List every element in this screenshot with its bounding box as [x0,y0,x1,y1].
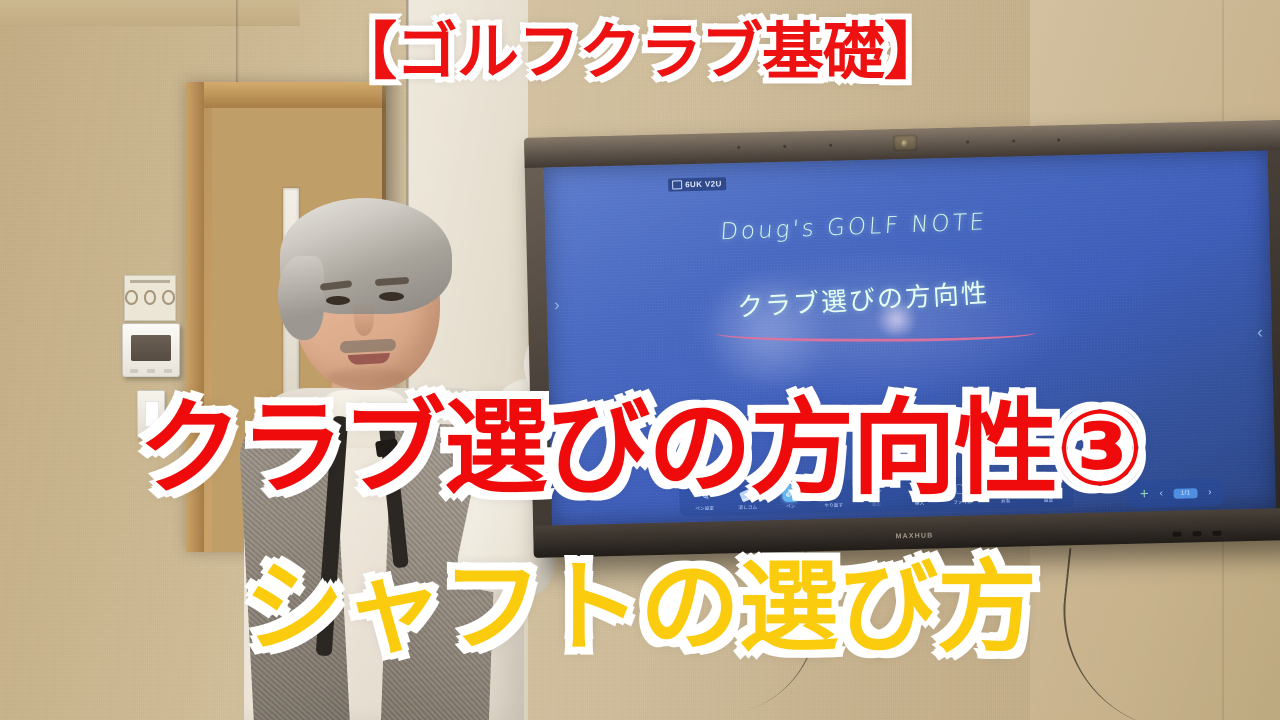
nose [354,302,374,336]
edge-hint-right-icon[interactable]: ‹ [1257,323,1263,343]
source-badge: 6UK V2U [668,177,726,191]
source-badge-label: 6UK V2U [685,179,722,189]
eye-left [326,296,350,305]
screenshot-frame: 6UK V2U Doug's GOLF NOTE クラブ選びの方向性 › ‹ ✎… [0,0,1280,720]
subtitle-overlay: シャフトの選び方 [0,558,1280,658]
wall-sticker [124,275,176,321]
hair-side [278,256,324,340]
eye-right [379,292,404,301]
intercom-screen [131,335,171,361]
display-ports [1172,531,1221,537]
wall-intercom-panel[interactable] [122,323,180,377]
main-title-overlay: クラブ選びの方向性③ [0,396,1280,500]
display-brand-label: MAXHUB [884,532,944,540]
chin-shadow [328,368,408,386]
edge-hint-left-icon[interactable]: › [554,295,560,315]
intercom-buttons[interactable] [130,369,172,373]
camera-icon [893,135,917,152]
top-title-overlay: 【ゴルフクラブ基礎】 [0,21,1280,83]
monitor-icon [672,180,682,189]
